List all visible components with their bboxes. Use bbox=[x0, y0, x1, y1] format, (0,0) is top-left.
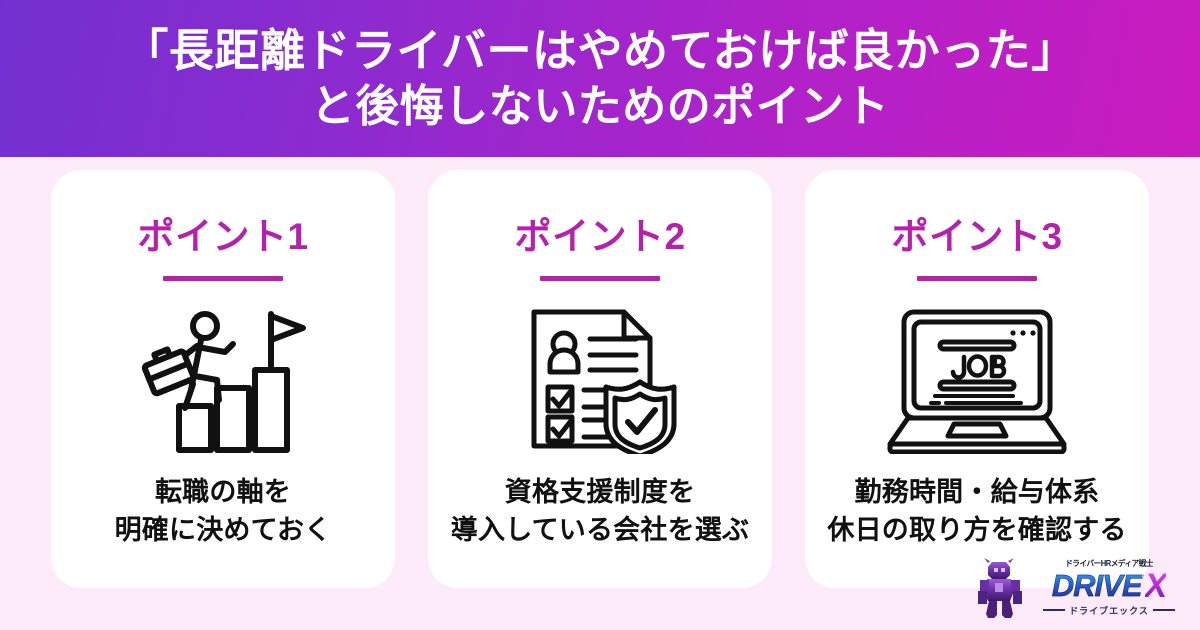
point-card-3: ポイント3 bbox=[805, 170, 1149, 588]
drive-x-logo[interactable]: ドライバーHRメディア戦士 DRIVE X ドライブエックス bbox=[974, 552, 1190, 624]
logo-tagline: ドライバーHRメディア戦士 bbox=[1065, 560, 1153, 568]
logo-sub-dash-left bbox=[1043, 609, 1065, 611]
point-card-2-underline bbox=[540, 276, 660, 281]
point-card-1-text-line-2: 明確に決めておく bbox=[115, 511, 332, 549]
mech-robot-icon bbox=[974, 557, 1026, 619]
logo-brand-mark: X bbox=[1145, 569, 1167, 603]
point-card-1-underline bbox=[163, 276, 283, 281]
logo-brand-sub: ドライブエックス bbox=[1069, 604, 1149, 617]
logo-wordmark: ドライバーHRメディア戦士 DRIVE X ドライブエックス bbox=[1030, 560, 1188, 617]
career-growth-icon bbox=[137, 299, 309, 459]
point-card-3-text-line-2: 休日の取り方を確認する bbox=[827, 511, 1126, 549]
point-card-3-underline bbox=[917, 276, 1037, 281]
point-card-1-title: ポイント1 bbox=[137, 218, 308, 255]
logo-sub-dash-right bbox=[1153, 609, 1175, 611]
header-title-line-1: 「長距離ドライバーはやめておけば良かった」 bbox=[123, 22, 1076, 80]
point-card-2-title: ポイント2 bbox=[514, 218, 685, 255]
point-card-1: ポイント1 bbox=[51, 170, 395, 588]
point-card-2-text-line-2: 導入している会社を選ぶ bbox=[451, 511, 749, 549]
point-card-3-title: ポイント3 bbox=[891, 218, 1062, 255]
point-card-2: ポイント2 bbox=[428, 170, 772, 588]
point-card-3-text-line-1: 勤務時間・給与体系 bbox=[827, 473, 1126, 511]
logo-brand-main: DRIVE bbox=[1052, 570, 1142, 601]
point-card-2-text-line-1: 資格支援制度を bbox=[451, 473, 749, 511]
point-card-2-text: 資格支援制度を 導入している会社を選ぶ bbox=[451, 473, 749, 550]
infographic-page: 「長距離ドライバーはやめておけば良かった」 と後悔しないためのポイント ポイント… bbox=[0, 0, 1200, 630]
point-card-1-text-line-1: 転職の軸を bbox=[115, 473, 332, 511]
point-card-3-text: 勤務時間・給与体系 休日の取り方を確認する bbox=[827, 473, 1126, 550]
document-shield-check-icon bbox=[520, 299, 680, 459]
logo-brand: DRIVE X bbox=[1052, 569, 1166, 603]
header-title-line-2: と後悔しないためのポイント bbox=[311, 79, 890, 135]
logo-sub-row: ドライブエックス bbox=[1043, 604, 1175, 617]
header-banner: 「長距離ドライバーはやめておけば良かった」 と後悔しないためのポイント bbox=[0, 0, 1200, 157]
point-card-1-text: 転職の軸を 明確に決めておく bbox=[115, 473, 332, 550]
laptop-job-icon bbox=[882, 299, 1072, 459]
